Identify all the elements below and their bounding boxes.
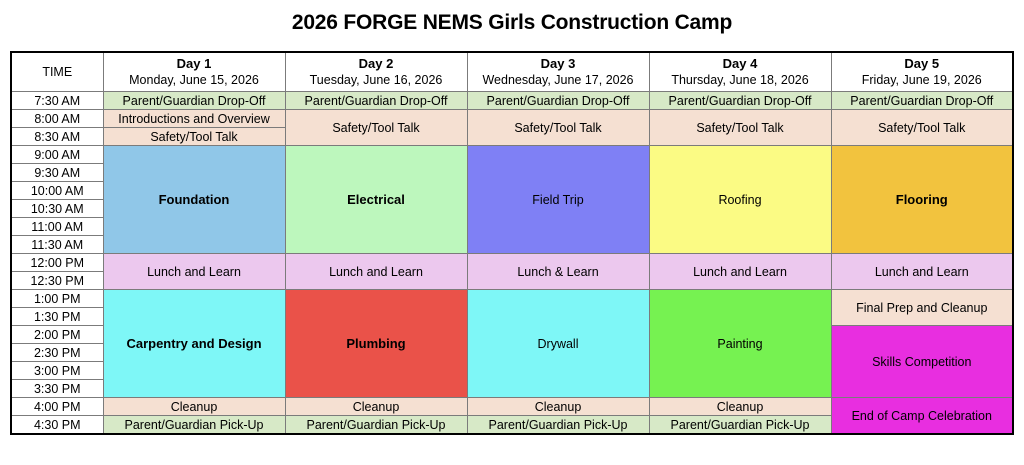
schedule-cell-day4-6: Cleanup <box>649 398 831 416</box>
time-label-19: 4:30 PM <box>11 416 103 435</box>
time-label-8: 11:00 AM <box>11 218 103 236</box>
column-header-day-2: Day 2 Tuesday, June 16, 2026 <box>285 52 467 92</box>
schedule-cell-day5-6: Skills Competition <box>831 326 1013 398</box>
column-header-day-3: Day 3 Wednesday, June 17, 2026 <box>467 52 649 92</box>
schedule-cell-day5-7: End of Camp Celebration <box>831 398 1013 435</box>
schedule-cell-day1-4: Foundation <box>103 146 285 254</box>
schedule-cell-day1-8: Parent/Guardian Pick-Up <box>103 416 285 435</box>
schedule-cell-day4-3: Roofing <box>649 146 831 254</box>
schedule-cell-day4-1: Parent/Guardian Drop-Off <box>649 92 831 110</box>
schedule-cell-day3-6: Cleanup <box>467 398 649 416</box>
schedule-cell-day2-1: Parent/Guardian Drop-Off <box>285 92 467 110</box>
schedule-cell-day1-6: Carpentry and Design <box>103 290 285 398</box>
schedule-row: 8:00 AMIntroductions and OverviewSafety/… <box>11 110 1013 128</box>
time-label-10: 12:00 PM <box>11 254 103 272</box>
day-3-date: Wednesday, June 17, 2026 <box>468 72 649 88</box>
schedule-cell-day4-5: Painting <box>649 290 831 398</box>
time-label-7: 10:30 AM <box>11 200 103 218</box>
table-header: TIME Day 1 Monday, June 15, 2026 Day 2 T… <box>11 52 1013 92</box>
column-header-day-4: Day 4 Thursday, June 18, 2026 <box>649 52 831 92</box>
time-label-2: 8:00 AM <box>11 110 103 128</box>
time-label-13: 1:30 PM <box>11 308 103 326</box>
table-body: 7:30 AMParent/Guardian Drop-OffParent/Gu… <box>11 92 1013 435</box>
time-label-18: 4:00 PM <box>11 398 103 416</box>
schedule-cell-day4-7: Parent/Guardian Pick-Up <box>649 416 831 435</box>
schedule-cell-day1-5: Lunch and Learn <box>103 254 285 290</box>
column-header-day-1: Day 1 Monday, June 15, 2026 <box>103 52 285 92</box>
schedule-cell-day2-4: Lunch and Learn <box>285 254 467 290</box>
schedule-cell-day5-4: Lunch and Learn <box>831 254 1013 290</box>
time-label-14: 2:00 PM <box>11 326 103 344</box>
day-2-date: Tuesday, June 16, 2026 <box>286 72 467 88</box>
schedule-cell-day2-7: Parent/Guardian Pick-Up <box>285 416 467 435</box>
schedule-cell-day1-3: Safety/Tool Talk <box>103 128 285 146</box>
schedule-cell-day3-1: Parent/Guardian Drop-Off <box>467 92 649 110</box>
schedule-cell-day3-5: Drywall <box>467 290 649 398</box>
schedule-cell-day1-1: Parent/Guardian Drop-Off <box>103 92 285 110</box>
schedule-cell-day1-2: Introductions and Overview <box>103 110 285 128</box>
time-label-11: 12:30 PM <box>11 272 103 290</box>
schedule-row: 1:00 PMCarpentry and DesignPlumbingDrywa… <box>11 290 1013 308</box>
page-title: 2026 FORGE NEMS Girls Construction Camp <box>0 0 1024 37</box>
schedule-row: 4:00 PMCleanupCleanupCleanupCleanupEnd o… <box>11 398 1013 416</box>
schedule-cell-day3-3: Field Trip <box>467 146 649 254</box>
day-2-name: Day 2 <box>286 56 467 72</box>
column-header-time: TIME <box>11 52 103 92</box>
schedule-cell-day5-1: Parent/Guardian Drop-Off <box>831 92 1013 110</box>
day-5-name: Day 5 <box>832 56 1013 72</box>
schedule-cell-day5-3: Flooring <box>831 146 1013 254</box>
camp-schedule-table: TIME Day 1 Monday, June 15, 2026 Day 2 T… <box>10 51 1014 435</box>
time-label-9: 11:30 AM <box>11 236 103 254</box>
schedule-cell-day3-4: Lunch & Learn <box>467 254 649 290</box>
schedule-cell-day2-2: Safety/Tool Talk <box>285 110 467 146</box>
schedule-row: 12:00 PMLunch and LearnLunch and LearnLu… <box>11 254 1013 272</box>
time-label-17: 3:30 PM <box>11 380 103 398</box>
column-header-day-5: Day 5 Friday, June 19, 2026 <box>831 52 1013 92</box>
time-label-4: 9:00 AM <box>11 146 103 164</box>
day-4-name: Day 4 <box>650 56 831 72</box>
day-1-date: Monday, June 15, 2026 <box>104 72 285 88</box>
time-label-5: 9:30 AM <box>11 164 103 182</box>
schedule-cell-day4-2: Safety/Tool Talk <box>649 110 831 146</box>
schedule-cell-day3-7: Parent/Guardian Pick-Up <box>467 416 649 435</box>
day-4-date: Thursday, June 18, 2026 <box>650 72 831 88</box>
schedule-row: 7:30 AMParent/Guardian Drop-OffParent/Gu… <box>11 92 1013 110</box>
schedule-cell-day2-5: Plumbing <box>285 290 467 398</box>
time-label-1: 7:30 AM <box>11 92 103 110</box>
day-1-name: Day 1 <box>104 56 285 72</box>
day-5-date: Friday, June 19, 2026 <box>832 72 1013 88</box>
time-label-3: 8:30 AM <box>11 128 103 146</box>
schedule-cell-day4-4: Lunch and Learn <box>649 254 831 290</box>
schedule-cell-day2-3: Electrical <box>285 146 467 254</box>
day-3-name: Day 3 <box>468 56 649 72</box>
schedule-cell-day2-6: Cleanup <box>285 398 467 416</box>
time-label-16: 3:00 PM <box>11 362 103 380</box>
time-label-15: 2:30 PM <box>11 344 103 362</box>
schedule-row: 9:00 AMFoundationElectricalField TripRoo… <box>11 146 1013 164</box>
schedule-cell-day5-2: Safety/Tool Talk <box>831 110 1013 146</box>
schedule-cell-day5-5: Final Prep and Cleanup <box>831 290 1013 326</box>
schedule-cell-day1-7: Cleanup <box>103 398 285 416</box>
schedule-table-container: TIME Day 1 Monday, June 15, 2026 Day 2 T… <box>0 37 1024 435</box>
time-label-6: 10:00 AM <box>11 182 103 200</box>
schedule-cell-day3-2: Safety/Tool Talk <box>467 110 649 146</box>
time-label-12: 1:00 PM <box>11 290 103 308</box>
header-row: TIME Day 1 Monday, June 15, 2026 Day 2 T… <box>11 52 1013 92</box>
